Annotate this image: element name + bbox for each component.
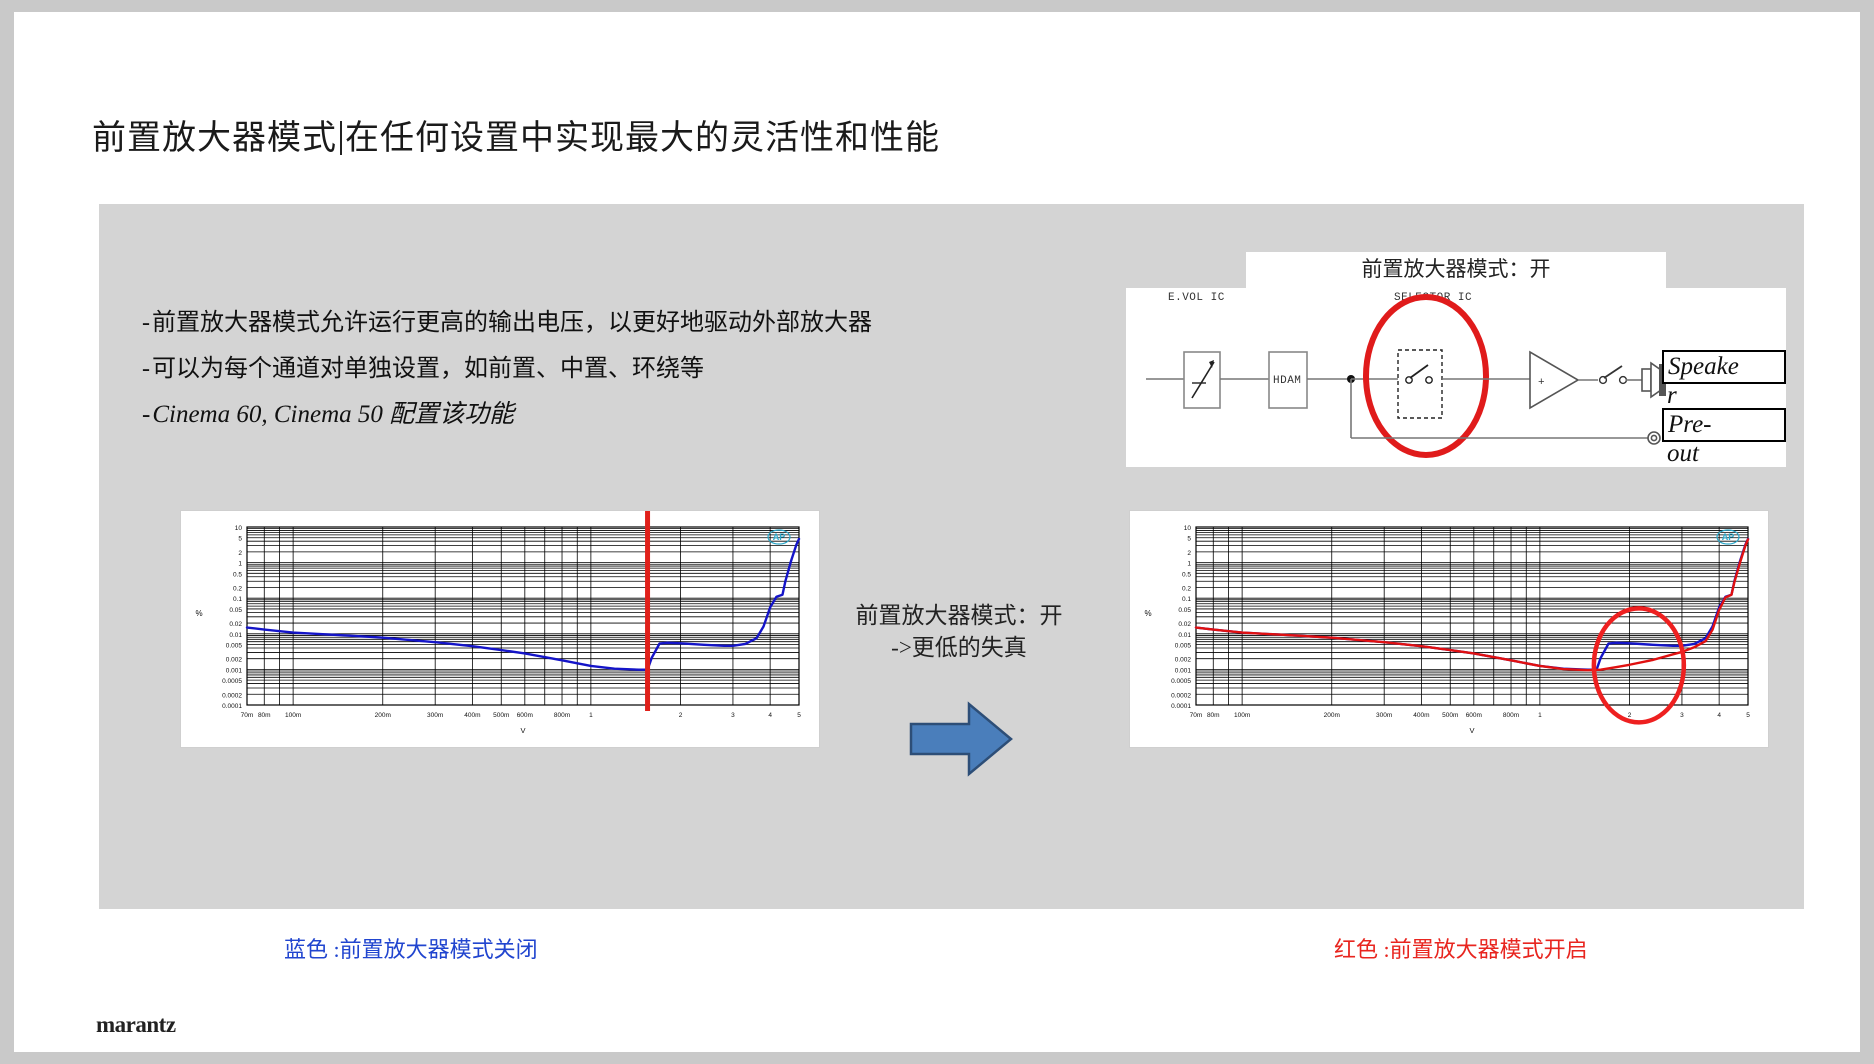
hdam-label: HDAM <box>1273 375 1301 387</box>
preout-label: Pre- <box>1668 411 1712 438</box>
svg-text:3: 3 <box>731 712 735 719</box>
svg-text:0.02: 0.02 <box>229 621 242 628</box>
svg-text:500m: 500m <box>1442 712 1458 719</box>
bullet-text: Cinema 60, Cinema 50 配置该功能 <box>152 401 514 428</box>
chart-left-svg: 105210.50.20.10.050.020.010.0050.0020.00… <box>181 511 817 745</box>
svg-text:0.002: 0.002 <box>1175 657 1192 664</box>
circuit-diagram: 前置放大器模式：开 E.VOL IC SELECTOR IC HDAM <box>1126 252 1786 467</box>
svg-text:600m: 600m <box>517 712 533 719</box>
svg-text:300m: 300m <box>427 712 443 719</box>
amp-plus-label: + <box>1538 377 1545 389</box>
svg-text:5: 5 <box>238 536 242 543</box>
svg-text:0.01: 0.01 <box>229 632 242 639</box>
transition-arrow <box>907 698 1015 785</box>
selector-highlight-circle <box>1366 297 1486 455</box>
bullet-item-1: -前置放大器模式允许运行更高的输出电压，以更好地驱动外部放大器 <box>142 300 922 346</box>
bullet-list: -前置放大器模式允许运行更高的输出电压，以更好地驱动外部放大器 -可以为每个通道… <box>142 300 922 438</box>
chart-right: 105210.50.20.10.050.020.010.0050.0020.00… <box>1129 510 1769 748</box>
svg-text:AP: AP <box>1722 532 1735 542</box>
svg-text:0.0005: 0.0005 <box>1171 678 1191 685</box>
evol-ic-label: E.VOL IC <box>1168 292 1225 304</box>
page-title-sub: 在任何设置中实现最大的灵活性和性能 <box>345 120 940 157</box>
bullet-item-3: -Cinema 60, Cinema 50 配置该功能 <box>142 392 922 438</box>
bullet-text: 前置放大器模式允许运行更高的输出电压，以更好地驱动外部放大器 <box>152 310 872 336</box>
page-title-main: 前置放大器模式 <box>92 120 337 157</box>
preout-label-box: Pre- <box>1662 408 1786 442</box>
svg-text:0.5: 0.5 <box>233 571 242 578</box>
svg-text:0.0001: 0.0001 <box>1171 703 1191 710</box>
svg-text:0.002: 0.002 <box>226 657 243 664</box>
svg-text:0.001: 0.001 <box>1175 667 1192 674</box>
chart-right-svg: 105210.50.20.10.050.020.010.0050.0020.00… <box>1130 511 1766 745</box>
svg-text:0.01: 0.01 <box>1178 632 1191 639</box>
svg-text:1: 1 <box>589 712 593 719</box>
svg-text:0.05: 0.05 <box>229 607 242 614</box>
svg-text:5: 5 <box>1746 712 1750 719</box>
slide-canvas: 前置放大器模式在任何设置中实现最大的灵活性和性能 -前置放大器模式允许运行更高的… <box>14 12 1860 1052</box>
svg-text:2: 2 <box>1187 550 1191 557</box>
svg-text:0.5: 0.5 <box>1182 571 1191 578</box>
svg-text:800m: 800m <box>1503 712 1519 719</box>
svg-text:3: 3 <box>1680 712 1684 719</box>
speaker-label-overflow: r <box>1667 382 1677 410</box>
caption-blue: 蓝色 :前置放大器模式关闭 <box>284 932 538 964</box>
svg-text:V: V <box>520 726 525 735</box>
svg-text:200m: 200m <box>375 712 391 719</box>
middle-annotation-line1: 前置放大器模式：开 <box>824 600 1094 632</box>
svg-text:5: 5 <box>1187 536 1191 543</box>
bullet-dash: - <box>142 346 150 392</box>
svg-text:0.2: 0.2 <box>233 585 242 592</box>
svg-text:2: 2 <box>1628 712 1632 719</box>
svg-text:2: 2 <box>679 712 683 719</box>
svg-text:2: 2 <box>238 550 242 557</box>
speaker-label: Speake <box>1668 353 1739 380</box>
svg-text:0.2: 0.2 <box>1182 585 1191 592</box>
svg-text:%: % <box>195 609 202 618</box>
svg-text:500m: 500m <box>493 712 509 719</box>
preout-label-overflow: out <box>1667 440 1699 468</box>
svg-text:800m: 800m <box>554 712 570 719</box>
svg-text:80m: 80m <box>258 712 271 719</box>
svg-text:400m: 400m <box>1413 712 1429 719</box>
svg-text:4: 4 <box>768 712 772 719</box>
svg-text:0.1: 0.1 <box>233 596 242 603</box>
brand-logo: marantz <box>96 1012 176 1038</box>
middle-annotation-line2: ->更低的失真 <box>824 632 1094 664</box>
svg-text:0.0002: 0.0002 <box>1171 692 1191 699</box>
svg-text:0.005: 0.005 <box>226 643 243 650</box>
svg-text:%: % <box>1144 609 1151 618</box>
svg-text:70m: 70m <box>241 712 254 719</box>
middle-annotation: 前置放大器模式：开 ->更低的失真 <box>824 600 1094 664</box>
svg-text:V: V <box>1469 726 1474 735</box>
svg-text:100m: 100m <box>285 712 301 719</box>
bullet-dash: - <box>142 392 150 438</box>
bullet-item-2: -可以为每个通道对单独设置，如前置、中置、环绕等 <box>142 346 922 392</box>
svg-text:1: 1 <box>238 561 242 568</box>
svg-text:10: 10 <box>1184 525 1192 532</box>
svg-text:0.05: 0.05 <box>1178 607 1191 614</box>
speaker-icon <box>1642 369 1651 391</box>
svg-text:1: 1 <box>1187 561 1191 568</box>
slide-frame: 前置放大器模式在任何设置中实现最大的灵活性和性能 -前置放大器模式允许运行更高的… <box>0 0 1874 1064</box>
svg-text:1: 1 <box>1538 712 1542 719</box>
svg-text:0.1: 0.1 <box>1182 596 1191 603</box>
page-title: 前置放大器模式在任何设置中实现最大的灵活性和性能 <box>92 110 940 159</box>
svg-text:300m: 300m <box>1376 712 1392 719</box>
svg-text:5: 5 <box>797 712 801 719</box>
svg-text:0.001: 0.001 <box>226 667 243 674</box>
title-divider <box>340 121 342 155</box>
svg-text:0.02: 0.02 <box>1178 621 1191 628</box>
preout-terminal-icon <box>1648 432 1660 444</box>
svg-text:70m: 70m <box>1190 712 1203 719</box>
svg-text:10: 10 <box>235 525 243 532</box>
svg-text:400m: 400m <box>464 712 480 719</box>
svg-text:0.005: 0.005 <box>1175 643 1192 650</box>
svg-text:100m: 100m <box>1234 712 1250 719</box>
svg-text:4: 4 <box>1717 712 1721 719</box>
caption-red: 红色 :前置放大器模式开启 <box>1334 932 1588 964</box>
svg-text:0.0001: 0.0001 <box>222 703 242 710</box>
svg-text:AP: AP <box>773 532 786 542</box>
svg-text:0.0002: 0.0002 <box>222 692 242 699</box>
svg-text:600m: 600m <box>1466 712 1482 719</box>
bullet-dash: - <box>142 300 150 346</box>
svg-text:0.0005: 0.0005 <box>222 678 242 685</box>
speaker-label-box: Speake <box>1662 350 1786 384</box>
svg-text:80m: 80m <box>1207 712 1220 719</box>
svg-text:200m: 200m <box>1324 712 1340 719</box>
bullet-text: 可以为每个通道对单独设置，如前置、中置、环绕等 <box>152 356 704 382</box>
chart-left: 105210.50.20.10.050.020.010.0050.0020.00… <box>180 510 820 748</box>
